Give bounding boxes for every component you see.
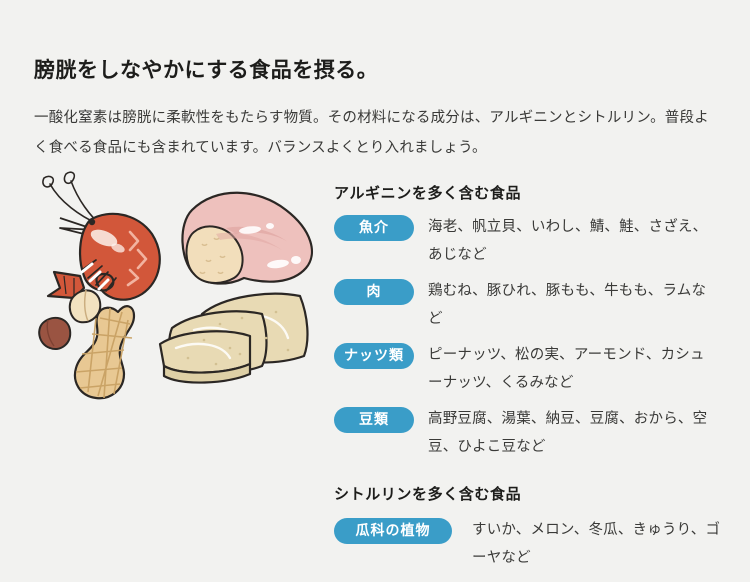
food-items-nuts: ピーナッツ、松の実、アーモンド、カシューナッツ、くるみなど <box>428 341 714 397</box>
infographic-page: 膀胱をしなやかにする食品を摂る。 一酸化窒素は膀胱に柔軟性をもたらす物質。その材… <box>0 0 750 574</box>
food-row-seafood: 魚介 海老、帆立貝、いわし、鯖、鮭、さざえ、あじなど <box>334 215 734 269</box>
food-lists: アルギニンを多く含む食品 魚介 海老、帆立貝、いわし、鯖、鮭、さざえ、あじなど … <box>334 182 734 582</box>
food-row-meat: 肉 鶏むね、豚ひれ、豚もも、牛もも、ラムなど <box>334 279 734 333</box>
category-badge-seafood: 魚介 <box>334 215 414 241</box>
chicken-breast-illustration <box>182 193 311 284</box>
food-items-seafood: 海老、帆立貝、いわし、鯖、鮭、さざえ、あじなど <box>428 213 714 269</box>
section-citrulline: シトルリンを多く含む食品 瓜科の植物 すいか、メロン、冬瓜、きゅうり、ゴーヤなど <box>334 483 734 572</box>
category-badge-nuts: ナッツ類 <box>334 343 414 369</box>
koya-tofu-illustration <box>160 294 307 383</box>
food-items-meat: 鶏むね、豚ひれ、豚もも、牛もも、ラムなど <box>428 277 714 333</box>
peanut-illustration <box>39 290 134 398</box>
category-badge-beans: 豆類 <box>334 407 414 433</box>
section-arginine: アルギニンを多く含む食品 魚介 海老、帆立貝、いわし、鯖、鮭、さざえ、あじなど … <box>334 182 734 461</box>
section-heading-citrulline: シトルリンを多く含む食品 <box>334 483 734 504</box>
food-row-beans: 豆類 高野豆腐、湯葉、納豆、豆腐、おから、空豆、ひよこ豆など <box>334 407 734 461</box>
page-title: 膀胱をしなやかにする食品を摂る。 <box>34 54 378 84</box>
category-badge-gourds: 瓜科の植物 <box>334 518 452 544</box>
food-items-gourds: すいか、メロン、冬瓜、きゅうり、ゴーヤなど <box>472 516 734 572</box>
category-badge-meat: 肉 <box>334 279 414 305</box>
intro-paragraph: 一酸化窒素は膀胱に柔軟性をもたらす物質。その材料になる成分は、アルギニンとシトル… <box>34 103 716 163</box>
food-row-gourds: 瓜科の植物 すいか、メロン、冬瓜、きゅうり、ゴーヤなど <box>334 518 734 572</box>
food-items-beans: 高野豆腐、湯葉、納豆、豆腐、おから、空豆、ひよこ豆など <box>428 405 714 461</box>
shrimp-illustration <box>43 172 160 299</box>
food-row-nuts: ナッツ類 ピーナッツ、松の実、アーモンド、カシューナッツ、くるみなど <box>334 343 734 397</box>
section-heading-arginine: アルギニンを多く含む食品 <box>334 182 734 203</box>
food-illustration <box>30 168 330 403</box>
